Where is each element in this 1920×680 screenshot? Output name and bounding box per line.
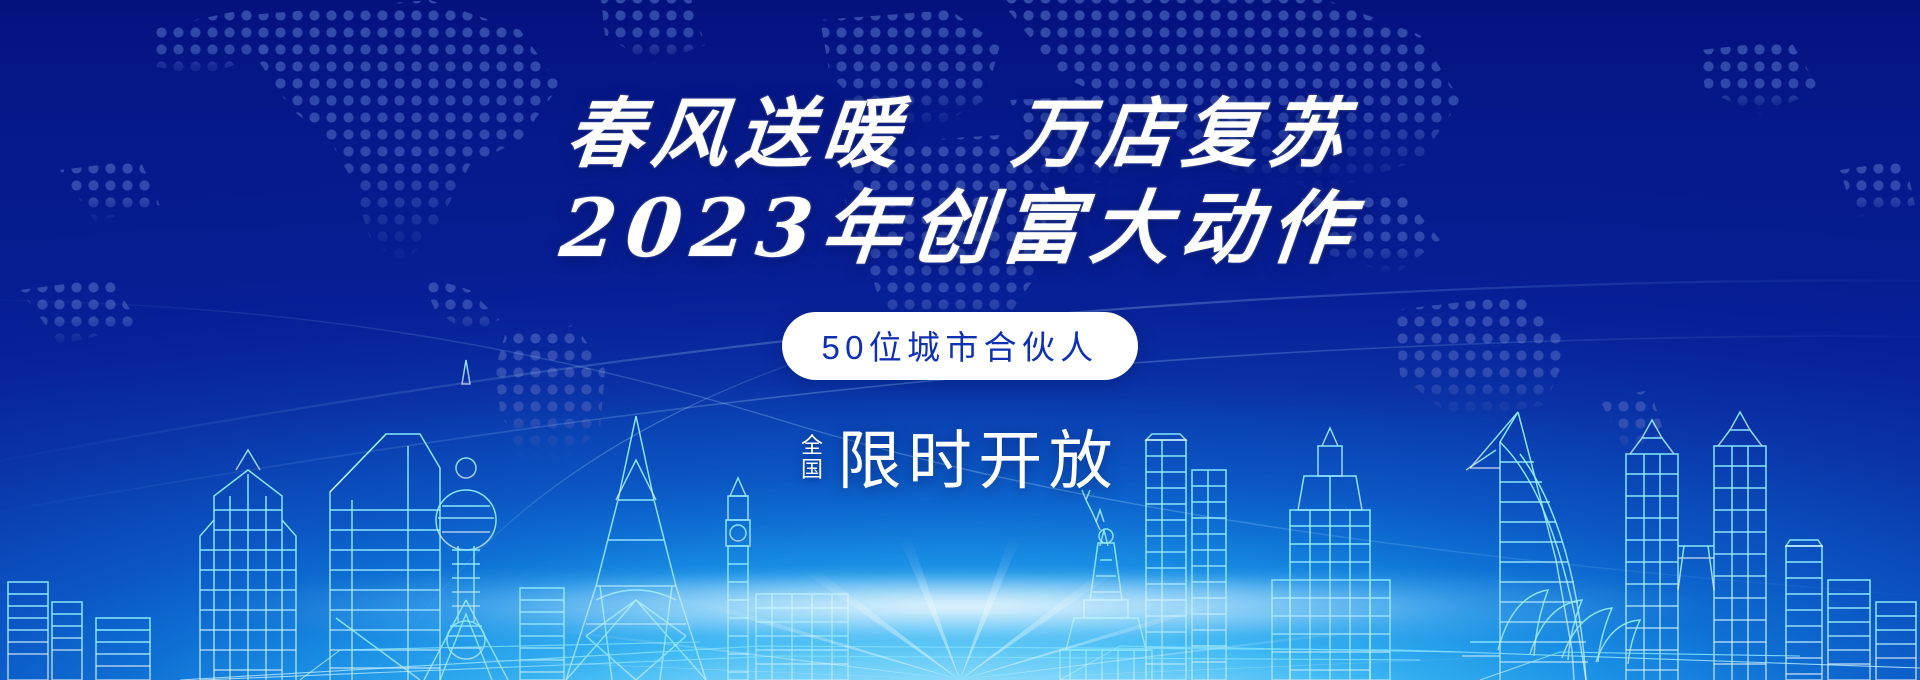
headline-line-2: 2023年创富大动作	[556, 188, 1363, 268]
headline-group: 春风送暖 万店复苏 2023年创富大动作	[561, 96, 1360, 268]
headline-line-1-left: 春风送暖	[562, 89, 912, 178]
nationwide-badge-top: 全	[801, 434, 823, 458]
headline-line-1-right: 万店复苏	[1008, 89, 1358, 178]
promo-banner: 春风送暖 万店复苏 2023年创富大动作 50位城市合伙人 全 国 限时开放	[0, 0, 1920, 680]
nationwide-badge: 全 国	[801, 430, 823, 482]
nationwide-badge-bottom: 国	[801, 458, 823, 482]
headline-line-1: 春风送暖 万店复苏	[563, 96, 1357, 172]
limited-time-headline: 限时开放	[837, 410, 1119, 502]
banner-content: 春风送暖 万店复苏 2023年创富大动作 50位城市合伙人 全 国 限时开放	[0, 0, 1920, 680]
partner-count-pill[interactable]: 50位城市合伙人	[782, 312, 1139, 380]
availability-line: 全 国 限时开放	[801, 410, 1119, 502]
